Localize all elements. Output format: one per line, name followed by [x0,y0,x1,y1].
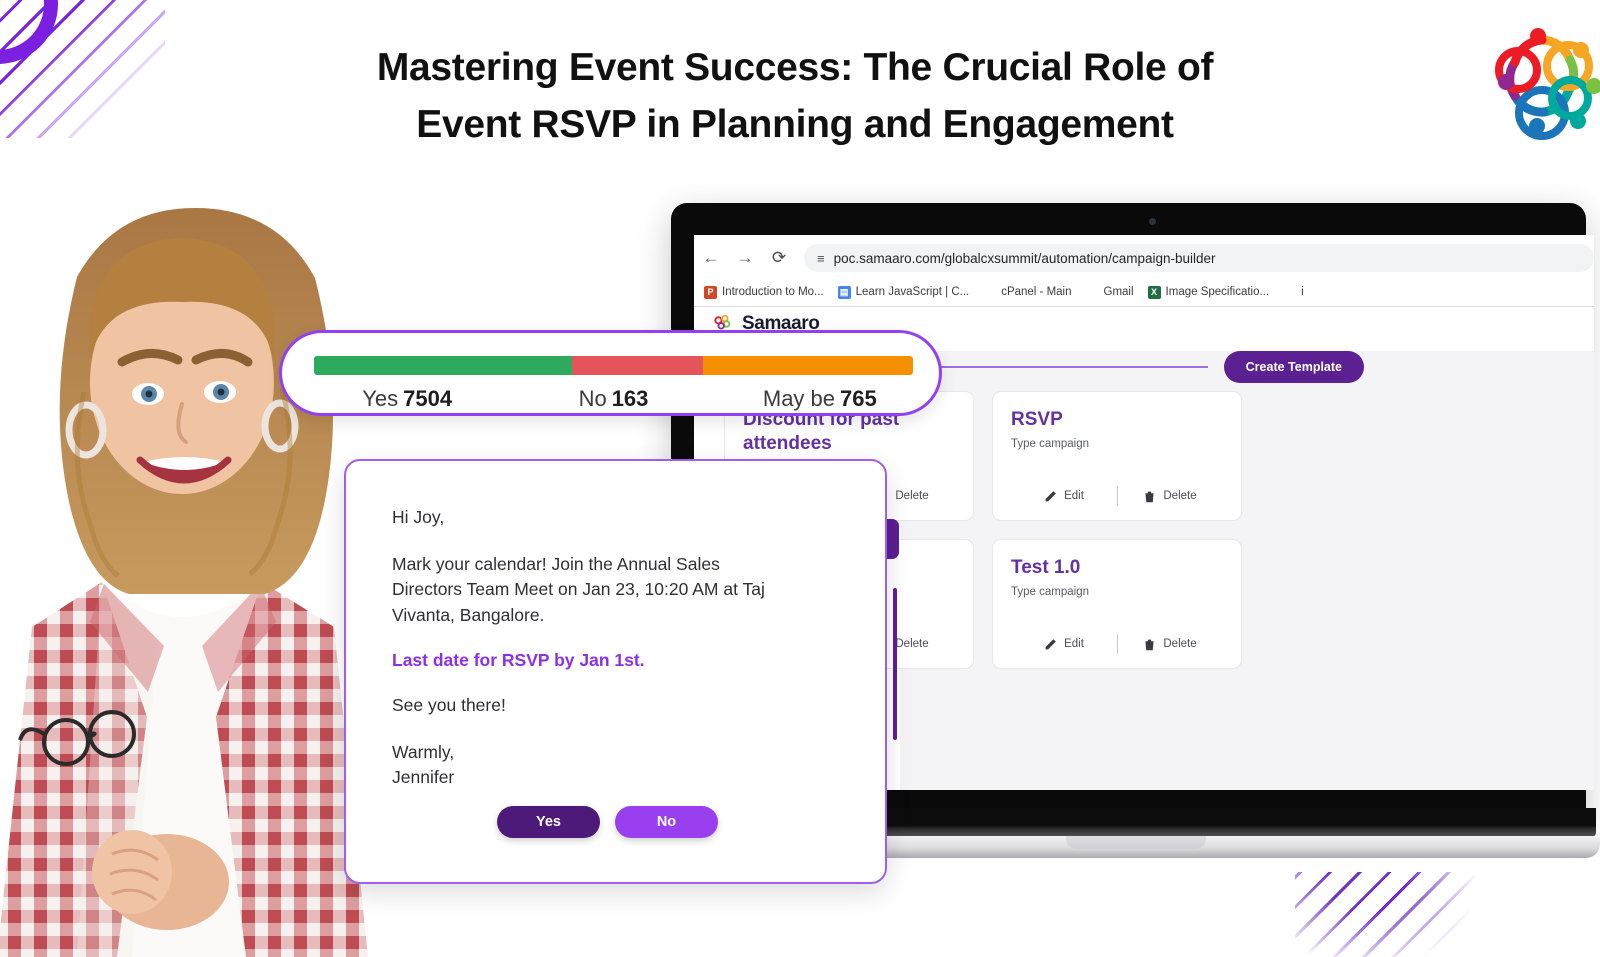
template-card-subtitle: Type campaign [1011,438,1223,450]
edit-label: Edit [1064,638,1084,650]
bookmark-item[interactable]: X Image Specificatio... [1148,286,1270,299]
gmail-favicon-icon: M [1086,286,1099,299]
spacer [392,530,839,552]
email-closing: See you there! [392,693,839,718]
rsvp-progress-bar [314,356,913,375]
pencil-icon [1044,490,1057,503]
create-template-button[interactable]: Create Template [1224,351,1364,383]
pencil-icon [1044,638,1057,651]
document-favicon-icon: ▤ [838,286,851,299]
site-settings-icon[interactable]: ≡ [817,251,824,266]
address-bar[interactable]: ≡ poc.samaaro.com/globalcxsummit/automat… [804,244,1594,272]
teams-favicon-icon: ❖ [1283,286,1296,299]
laptop-trackpad-notch [1066,836,1206,849]
spacer [392,628,839,650]
email-body-line-1: Mark your calendar! Join the Annual Sale… [392,552,839,577]
spacer [392,671,839,693]
reload-icon[interactable]: ⟳ [762,248,796,268]
samaaro-people-circle-logo-icon [1482,8,1600,148]
bookmark-item[interactable]: M Gmail [1086,286,1134,299]
rsvp-stat-yes: Yes7504 [304,386,510,412]
cpanel-favicon-icon: cP [983,286,996,299]
rsvp-stat-yes-value: 7504 [403,386,452,411]
edit-action[interactable]: Edit [1012,490,1117,503]
template-card-title: Test 1.0 [1011,556,1223,580]
email-sign-off: Warmly, [392,740,839,765]
delete-action[interactable]: Delete [1118,490,1223,503]
browser-toolbar: ← → ⟳ ≡ poc.samaaro.com/globalcxsummit/a… [694,237,1594,279]
edit-label: Edit [1064,490,1084,502]
template-card-title: RSVP [1011,408,1223,432]
email-sender: Jennifer [392,765,839,790]
page-title-line-1: Mastering Event Success: The Crucial Rol… [300,40,1290,97]
rsvp-stat-maybe: May be765 [717,386,923,412]
poster-canvas: Mastering Event Success: The Crucial Rol… [0,0,1600,957]
powerpoint-favicon-icon: P [704,286,717,299]
template-card-actions: Edit Delete [993,486,1241,506]
rsvp-no-button[interactable]: No [615,806,718,838]
page-title: Mastering Event Success: The Crucial Rol… [300,40,1290,153]
rsvp-bar-segment-no [572,356,704,375]
bookmark-label: Learn JavaScript | C... [856,286,970,298]
diagonal-stripes-decoration-bottom-right [1295,872,1475,957]
delete-label: Delete [1163,638,1196,650]
rsvp-stat-no: No163 [510,386,716,412]
rsvp-stat-no-label: No [579,386,607,411]
bookmark-item[interactable]: ▤ Learn JavaScript | C... [838,286,970,299]
trash-icon [1143,638,1156,651]
bookmark-item[interactable]: ❖ i [1283,286,1304,299]
edit-action[interactable]: Edit [1012,638,1117,651]
webcam-icon [1149,218,1156,225]
rsvp-stat-maybe-label: May be [763,386,835,411]
email-body-line-2: Directors Team Meet on Jan 23, 10:20 AM … [392,577,839,602]
delete-label: Delete [1163,490,1196,502]
bookmark-label: cPanel - Main [1001,286,1071,298]
bookmark-item[interactable]: cP cPanel - Main [983,286,1071,299]
template-card[interactable]: Test 1.0 Type campaign Edit [992,539,1242,669]
rsvp-stats-pill: Yes7504 No163 May be765 [279,330,942,416]
rsvp-stat-labels: Yes7504 No163 May be765 [304,386,923,412]
spacer [392,718,839,740]
email-greeting: Hi Joy, [392,505,839,530]
email-rsvp-deadline: Last date for RSVP by Jan 1st. [392,650,839,671]
rsvp-stat-maybe-value: 765 [840,386,877,411]
bookmarks-bar: P Introduction to Mo... ▤ Learn JavaScri… [700,279,1594,305]
rsvp-yes-button[interactable]: Yes [497,806,600,838]
delete-action[interactable]: Delete [1118,638,1223,651]
bookmark-item[interactable]: P Introduction to Mo... [704,286,824,299]
bookmark-label: Introduction to Mo... [722,286,824,298]
back-icon[interactable]: ← [694,248,728,268]
excel-favicon-icon: X [1148,286,1161,299]
rsvp-stat-yes-label: Yes [362,386,398,411]
rsvp-bar-segment-maybe [703,356,913,375]
delete-label: Delete [895,638,928,650]
template-card-subtitle: Type campaign [1011,586,1223,598]
forward-icon[interactable]: → [728,248,762,268]
trash-icon [1143,490,1156,503]
address-bar-url: poc.samaaro.com/globalcxsummit/automatio… [834,251,1216,266]
bookmark-label: Gmail [1104,286,1134,298]
email-body-line-3: Vivanta, Bangalore. [392,603,839,628]
page-title-line-2: Event RSVP in Planning and Engagement [300,97,1290,154]
rsvp-email-card: Hi Joy, Mark your calendar! Join the Ann… [344,459,887,884]
bookmark-label: i [1301,286,1304,298]
bookmark-label: Image Specificatio... [1166,286,1270,298]
purple-accent-line [893,588,897,740]
rsvp-response-buttons: Yes No [497,806,718,838]
rsvp-stat-no-value: 163 [612,386,649,411]
delete-label: Delete [895,490,928,502]
template-card[interactable]: RSVP Type campaign Edit [992,391,1242,521]
template-card-actions: Edit Delete [993,634,1241,654]
rsvp-bar-segment-yes [314,356,572,375]
